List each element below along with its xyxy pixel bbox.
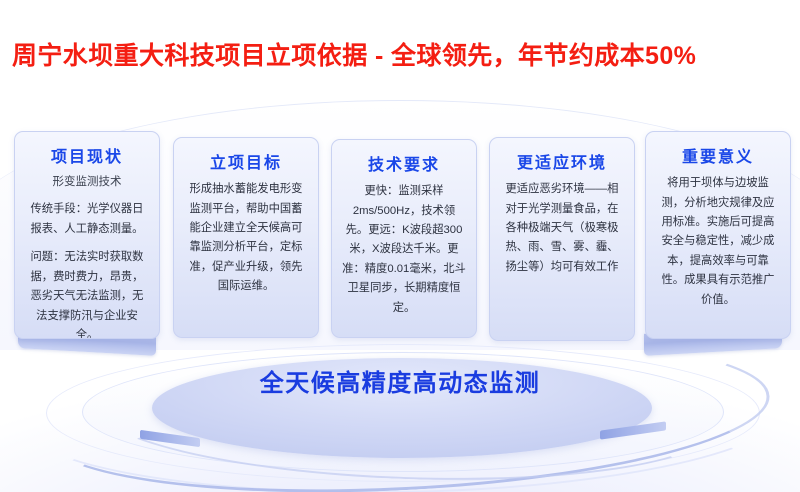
card-paragraph: 形成抽水蓄能发电形变监测平台，帮助中国蓄能企业建立全天候高可靠监测分析平台，定标… [184, 180, 308, 297]
card-body: 传统手段：光学仪器日报表、人工静态测量。 问题：无法实时获取数据，费时费力，昂贵… [25, 200, 149, 339]
card-heading: 项目现状 [25, 148, 149, 167]
platform-banner-text: 全天候高精度高动态监测 [0, 372, 800, 396]
card-paragraph: 更快：监测采样2ms/500Hz，技术领先。更远：K波段超300米，X波段达千米… [342, 182, 466, 318]
page-title: 周宁水坝重大科技项目立项依据 - 全球领先，年节约成本50% [12, 44, 696, 69]
card-body: 将用于坝体与边坡监测，分析地灾规律及应用标准。实施后可提高安全与稳定性，减少成本… [656, 174, 780, 310]
card-subtitle: 形变监测技术 [25, 174, 149, 191]
card-paragraph: 将用于坝体与边坡监测，分析地灾规律及应用标准。实施后可提高安全与稳定性，减少成本… [656, 174, 780, 310]
card-heading: 重要意义 [656, 148, 780, 167]
card-paragraph: 更适应恶劣环境——相对于光学测量食品，在各种极端天气（极寒极热、雨、雪、雾、霾、… [500, 180, 624, 277]
info-card-significance[interactable]: 重要意义 将用于坝体与边坡监测，分析地灾规律及应用标准。实施后可提高安全与稳定性… [645, 131, 791, 339]
info-card-project-goal[interactable]: 立项目标 形成抽水蓄能发电形变监测平台，帮助中国蓄能企业建立全天候高可靠监测分析… [173, 137, 319, 338]
info-card-environment-adaptability[interactable]: 更适应环境 更适应恶劣环境——相对于光学测量食品，在各种极端天气（极寒极热、雨、… [489, 137, 635, 341]
card-body: 更快：监测采样2ms/500Hz，技术领先。更远：K波段超300米，X波段达千米… [342, 182, 466, 318]
card-heading: 技术要求 [342, 156, 466, 175]
info-card-project-status[interactable]: 项目现状 形变监测技术 传统手段：光学仪器日报表、人工静态测量。 问题：无法实时… [14, 131, 160, 339]
card-paragraph: 传统手段：光学仪器日报表、人工静态测量。 [25, 200, 149, 239]
card-body: 更适应恶劣环境——相对于光学测量食品，在各种极端天气（极寒极热、雨、雪、雾、霾、… [500, 180, 624, 277]
info-card-technical-requirements[interactable]: 技术要求 更快：监测采样2ms/500Hz，技术领先。更远：K波段超300米，X… [331, 139, 477, 338]
card-paragraph: 问题：无法实时获取数据，费时费力，昂贵，恶劣天气无法监测，无法支撑防汛与企业安全… [25, 248, 149, 339]
card-heading: 立项目标 [184, 154, 308, 173]
slide-canvas: 周宁水坝重大科技项目立项依据 - 全球领先，年节约成本50% 项目现状 形变监测… [0, 0, 800, 492]
card-heading: 更适应环境 [500, 154, 624, 173]
base-platform [0, 330, 800, 492]
card-body: 形成抽水蓄能发电形变监测平台，帮助中国蓄能企业建立全天候高可靠监测分析平台，定标… [184, 180, 308, 297]
